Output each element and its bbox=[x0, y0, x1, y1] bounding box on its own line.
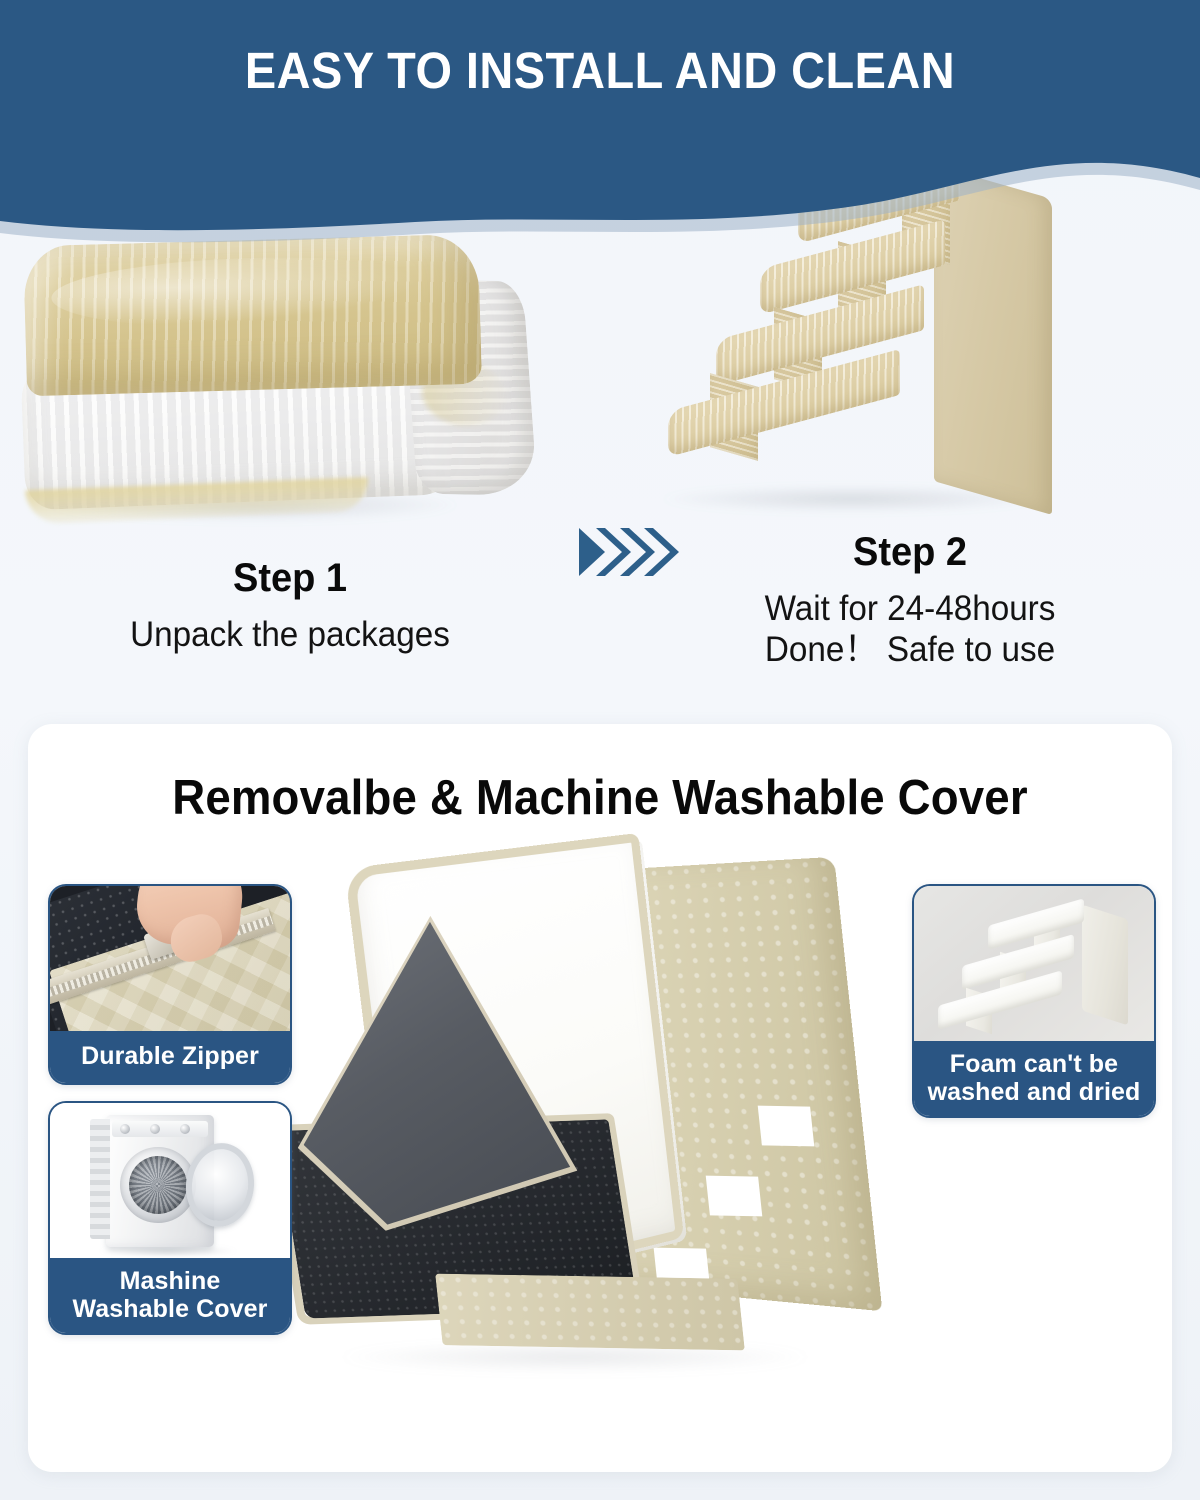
hero-step-notch-2 bbox=[706, 1176, 763, 1217]
step-1-description: Unpack the packages bbox=[24, 614, 556, 655]
header-wave-shape bbox=[0, 0, 1200, 260]
washer-drum bbox=[129, 1156, 187, 1214]
vacuum-packed-roll-image bbox=[15, 220, 535, 550]
cover-section-title: Removalbe & Machine Washable Cover bbox=[68, 770, 1132, 826]
front-load-washing-machine-image bbox=[50, 1103, 290, 1258]
washable-cover-card: Removalbe & Machine Washable Cover bbox=[28, 724, 1172, 1472]
page-title: EASY TO INSTALL AND CLEAN bbox=[48, 44, 1152, 98]
pet-stairs-with-cover-peeled-back-image bbox=[290, 856, 920, 1456]
step-1-caption: Step 1 Unpack the packages bbox=[10, 556, 570, 655]
foam-side-panel bbox=[1082, 905, 1128, 1026]
hero-cover-bottom-edge bbox=[435, 1274, 745, 1351]
zipper-closeup-with-hand-image bbox=[50, 886, 290, 1031]
infographic-page: EASY TO INSTALL AND CLEAN Step 1 Unpack … bbox=[0, 0, 1200, 1500]
white-foam-stairs-core-image bbox=[914, 886, 1154, 1041]
washer-knob-2 bbox=[150, 1124, 160, 1134]
feature-card-foam-not-washable[interactable]: Foam can't be washed and dried bbox=[912, 884, 1156, 1118]
feature-label-foam-not-washable: Foam can't be washed and dried bbox=[914, 1041, 1154, 1116]
step-1-column: Step 1 Unpack the packages bbox=[10, 200, 570, 655]
washer-knob-3 bbox=[180, 1124, 190, 1134]
feature-card-machine-washable[interactable]: Mashine Washable Cover bbox=[48, 1101, 292, 1335]
washer-side-vents bbox=[90, 1119, 110, 1239]
step-2-description: Wait for 24-48hours Done！ Safe to use bbox=[644, 588, 1176, 671]
header-banner: EASY TO INSTALL AND CLEAN bbox=[0, 0, 1200, 260]
feature-card-durable-zipper[interactable]: Durable Zipper bbox=[48, 884, 292, 1085]
step-2-title: Step 2 bbox=[644, 530, 1176, 574]
washer-knob-1 bbox=[120, 1124, 130, 1134]
feature-label-durable-zipper: Durable Zipper bbox=[50, 1031, 290, 1083]
feature-label-machine-washable: Mashine Washable Cover bbox=[50, 1258, 290, 1333]
step-2-caption: Step 2 Wait for 24-48hours Done！ Safe to… bbox=[630, 530, 1190, 671]
hero-step-notch-1 bbox=[758, 1106, 815, 1147]
step-1-title: Step 1 bbox=[24, 556, 556, 600]
triple-chevron-right-icon bbox=[575, 522, 680, 582]
